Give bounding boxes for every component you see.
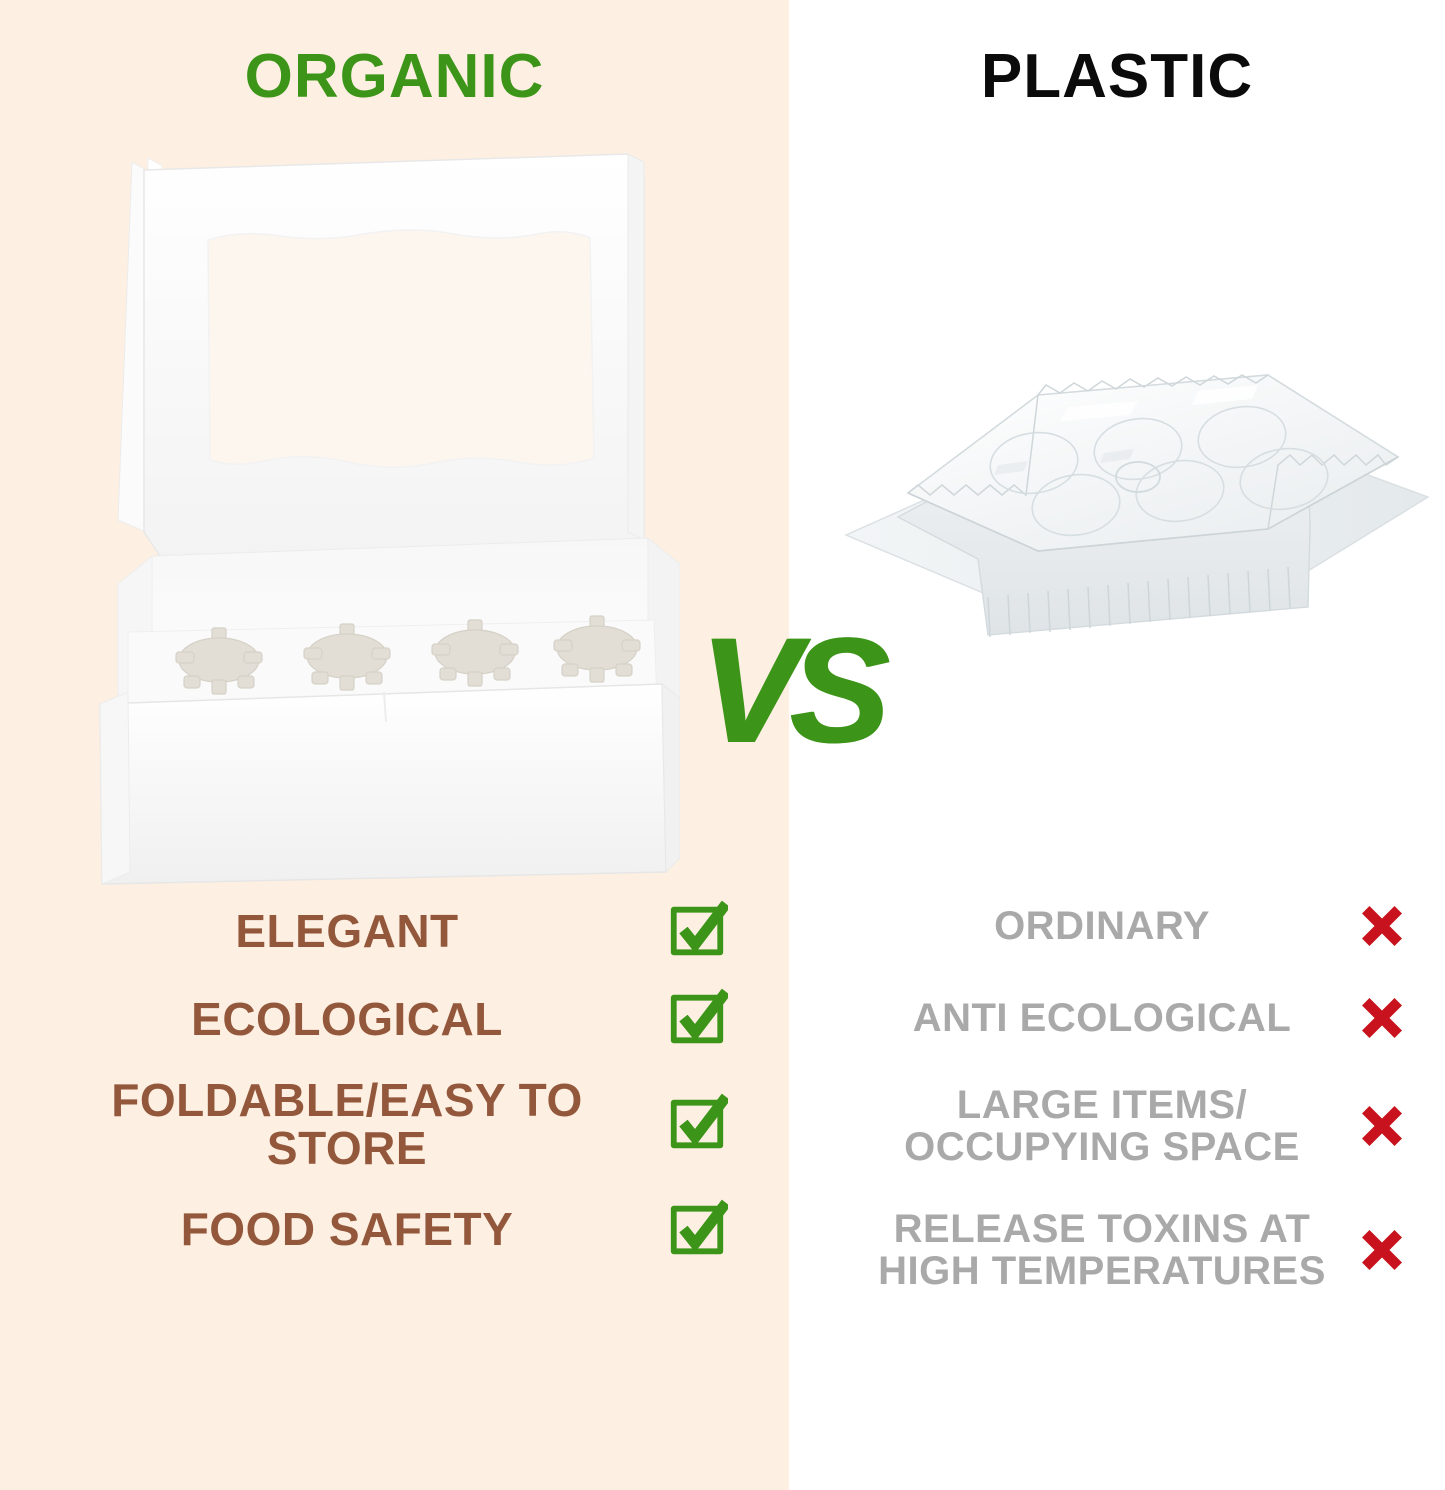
feature-label: FOOD SAFETY <box>40 1205 654 1253</box>
cross-icon <box>1339 900 1425 952</box>
feature-row: LARGE ITEMS/ OCCUPYING SPACE <box>865 1084 1425 1168</box>
plastic-feature-list: ORDINARY ANTI ECOLOGICAL LARGE ITEMS/ OC… <box>865 900 1425 1332</box>
plastic-product-image <box>838 345 1438 690</box>
cross-icon <box>1339 1224 1425 1276</box>
comparison-infographic: ORGANIC <box>0 0 1445 1490</box>
check-icon <box>654 1199 740 1261</box>
plastic-panel: PLASTIC ORDINARY ANTI ECOLOGICAL <box>789 0 1445 1490</box>
feature-row: ELEGANT <box>40 900 740 962</box>
organic-product-image <box>88 132 680 892</box>
cross-icon <box>1339 1100 1425 1152</box>
feature-label: FOLDABLE/EASY TO STORE <box>40 1076 654 1173</box>
feature-row: ORDINARY <box>865 900 1425 952</box>
feature-label: ANTI ECOLOGICAL <box>865 997 1339 1039</box>
feature-row: FOLDABLE/EASY TO STORE <box>40 1076 740 1173</box>
feature-label: LARGE ITEMS/ OCCUPYING SPACE <box>865 1084 1339 1168</box>
feature-row: ECOLOGICAL <box>40 988 740 1050</box>
cross-icon <box>1339 992 1425 1044</box>
feature-label: RELEASE TOXINS AT HIGH TEMPERATURES <box>865 1208 1339 1292</box>
vs-badge: VS <box>699 615 879 765</box>
feature-label: ECOLOGICAL <box>40 995 654 1043</box>
feature-row: RELEASE TOXINS AT HIGH TEMPERATURES <box>865 1208 1425 1292</box>
check-icon <box>654 900 740 962</box>
check-icon <box>654 988 740 1050</box>
organic-heading: ORGANIC <box>0 46 789 108</box>
feature-row: ANTI ECOLOGICAL <box>865 992 1425 1044</box>
check-icon <box>654 1093 740 1155</box>
organic-feature-list: ELEGANT ECOLOGICAL FOL <box>40 900 740 1287</box>
feature-label: ELEGANT <box>40 907 654 955</box>
feature-row: FOOD SAFETY <box>40 1199 740 1261</box>
plastic-heading: PLASTIC <box>789 46 1445 108</box>
feature-label: ORDINARY <box>865 905 1339 947</box>
organic-panel: ORGANIC <box>0 0 789 1490</box>
